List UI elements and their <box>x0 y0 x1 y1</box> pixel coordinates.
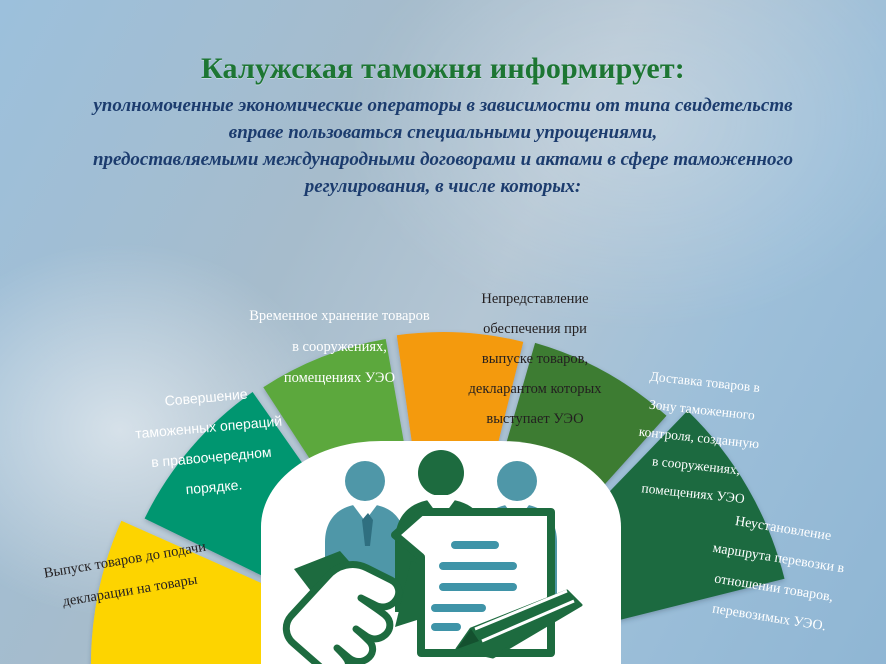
page-subtitle: уполномоченные экономические операторы в… <box>20 92 866 200</box>
subtitle-line-2: вправе пользоваться специальными упрощен… <box>20 119 866 146</box>
handshake-document-icon <box>261 441 621 664</box>
infographic-slide: Калужская таможня информирует: уполномоч… <box>0 0 886 664</box>
subtitle-line-1: уполномоченные экономические операторы в… <box>20 92 866 119</box>
doc-line-5 <box>431 623 461 631</box>
page-title: Калужская таможня информирует: <box>0 52 886 86</box>
center-illustration <box>261 441 621 664</box>
header-block: Калужская таможня информирует: уполномоч… <box>0 0 886 200</box>
doc-line-3 <box>439 583 517 591</box>
subtitle-line-3: предоставляемыми международными договора… <box>20 146 866 173</box>
doc-line-2 <box>439 562 517 570</box>
doc-line-4 <box>431 604 486 612</box>
doc-line-1 <box>451 541 499 549</box>
